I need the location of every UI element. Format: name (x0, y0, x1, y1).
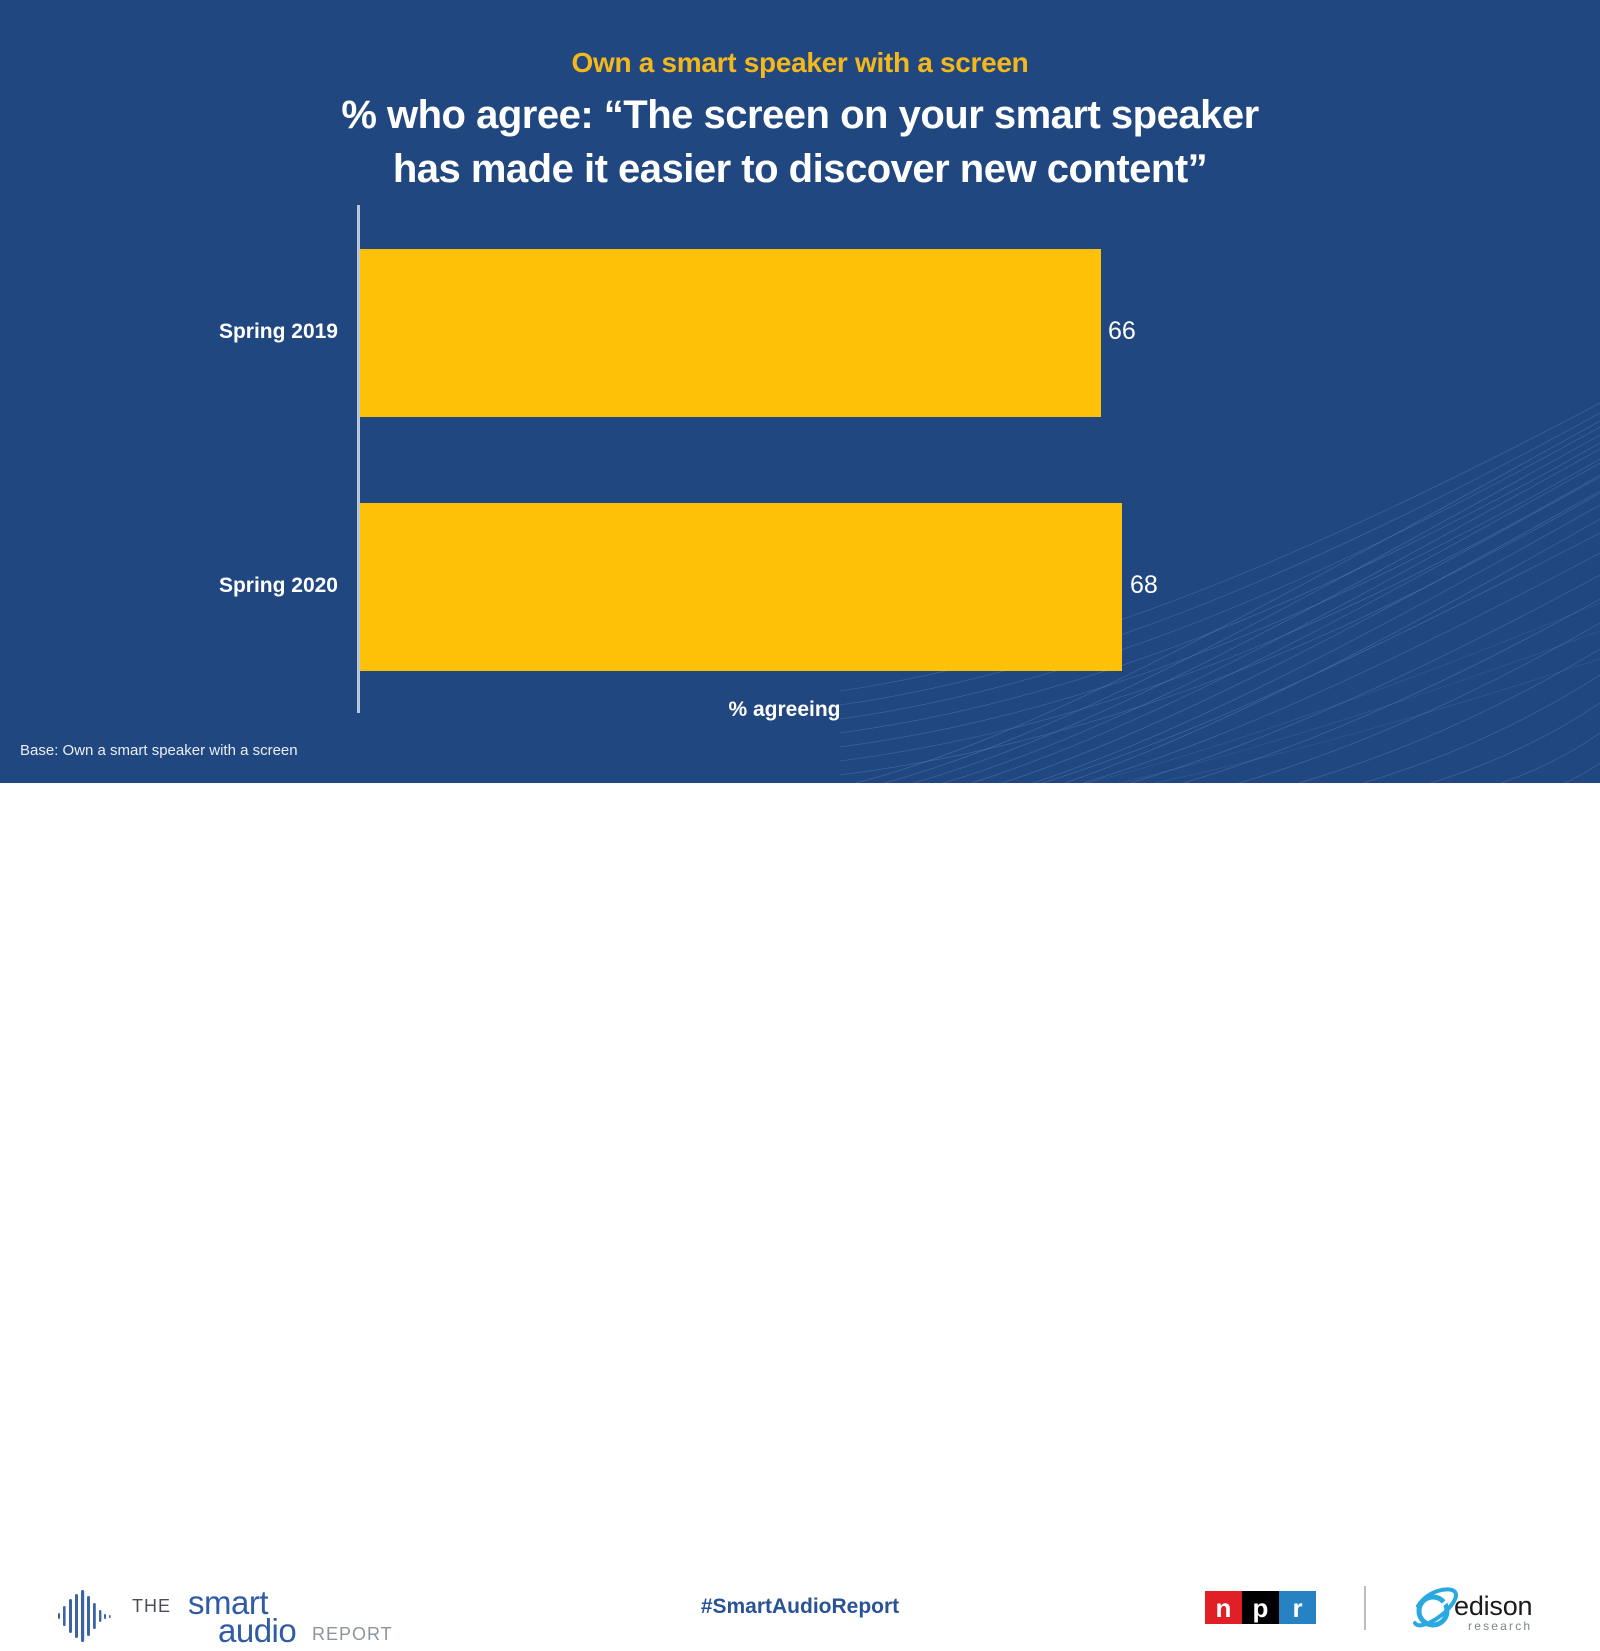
edison-research-logo: edison research (1412, 1584, 1567, 1638)
edison-swirl-icon (1412, 1586, 1460, 1632)
category-label-spring-2020: Spring 2020 (0, 574, 338, 598)
logo-text-report: REPORT (312, 1624, 393, 1645)
chart-x-axis-label: % agreeing (357, 698, 1212, 722)
slide-root: Own a smart speaker with a screen % who … (0, 0, 1600, 900)
npr-letter-r: r (1279, 1591, 1316, 1624)
bar-spring-2020 (360, 503, 1122, 671)
bar-spring-2019 (360, 249, 1101, 417)
bar-chart: Spring 2019 66 Spring 2020 68 % agreeing (0, 0, 1600, 783)
value-label-spring-2019: 66 (1108, 317, 1136, 346)
category-label-spring-2019: Spring 2019 (0, 320, 338, 344)
footer-bar: THE smart audio REPORT #SmartAudioReport… (0, 783, 1600, 900)
npr-logo: n p r (1205, 1591, 1316, 1624)
footer-divider (1364, 1586, 1366, 1630)
edison-sub-text: research (1468, 1619, 1532, 1633)
value-label-spring-2020: 68 (1130, 571, 1158, 600)
npr-letter-n: n (1205, 1591, 1242, 1624)
slide-background: Own a smart speaker with a screen % who … (0, 0, 1600, 783)
hashtag-label: #SmartAudioReport (0, 1595, 1600, 1619)
base-note: Base: Own a smart speaker with a screen (20, 742, 298, 759)
npr-letter-p: p (1242, 1591, 1279, 1624)
edison-name-text: edison (1454, 1591, 1532, 1622)
